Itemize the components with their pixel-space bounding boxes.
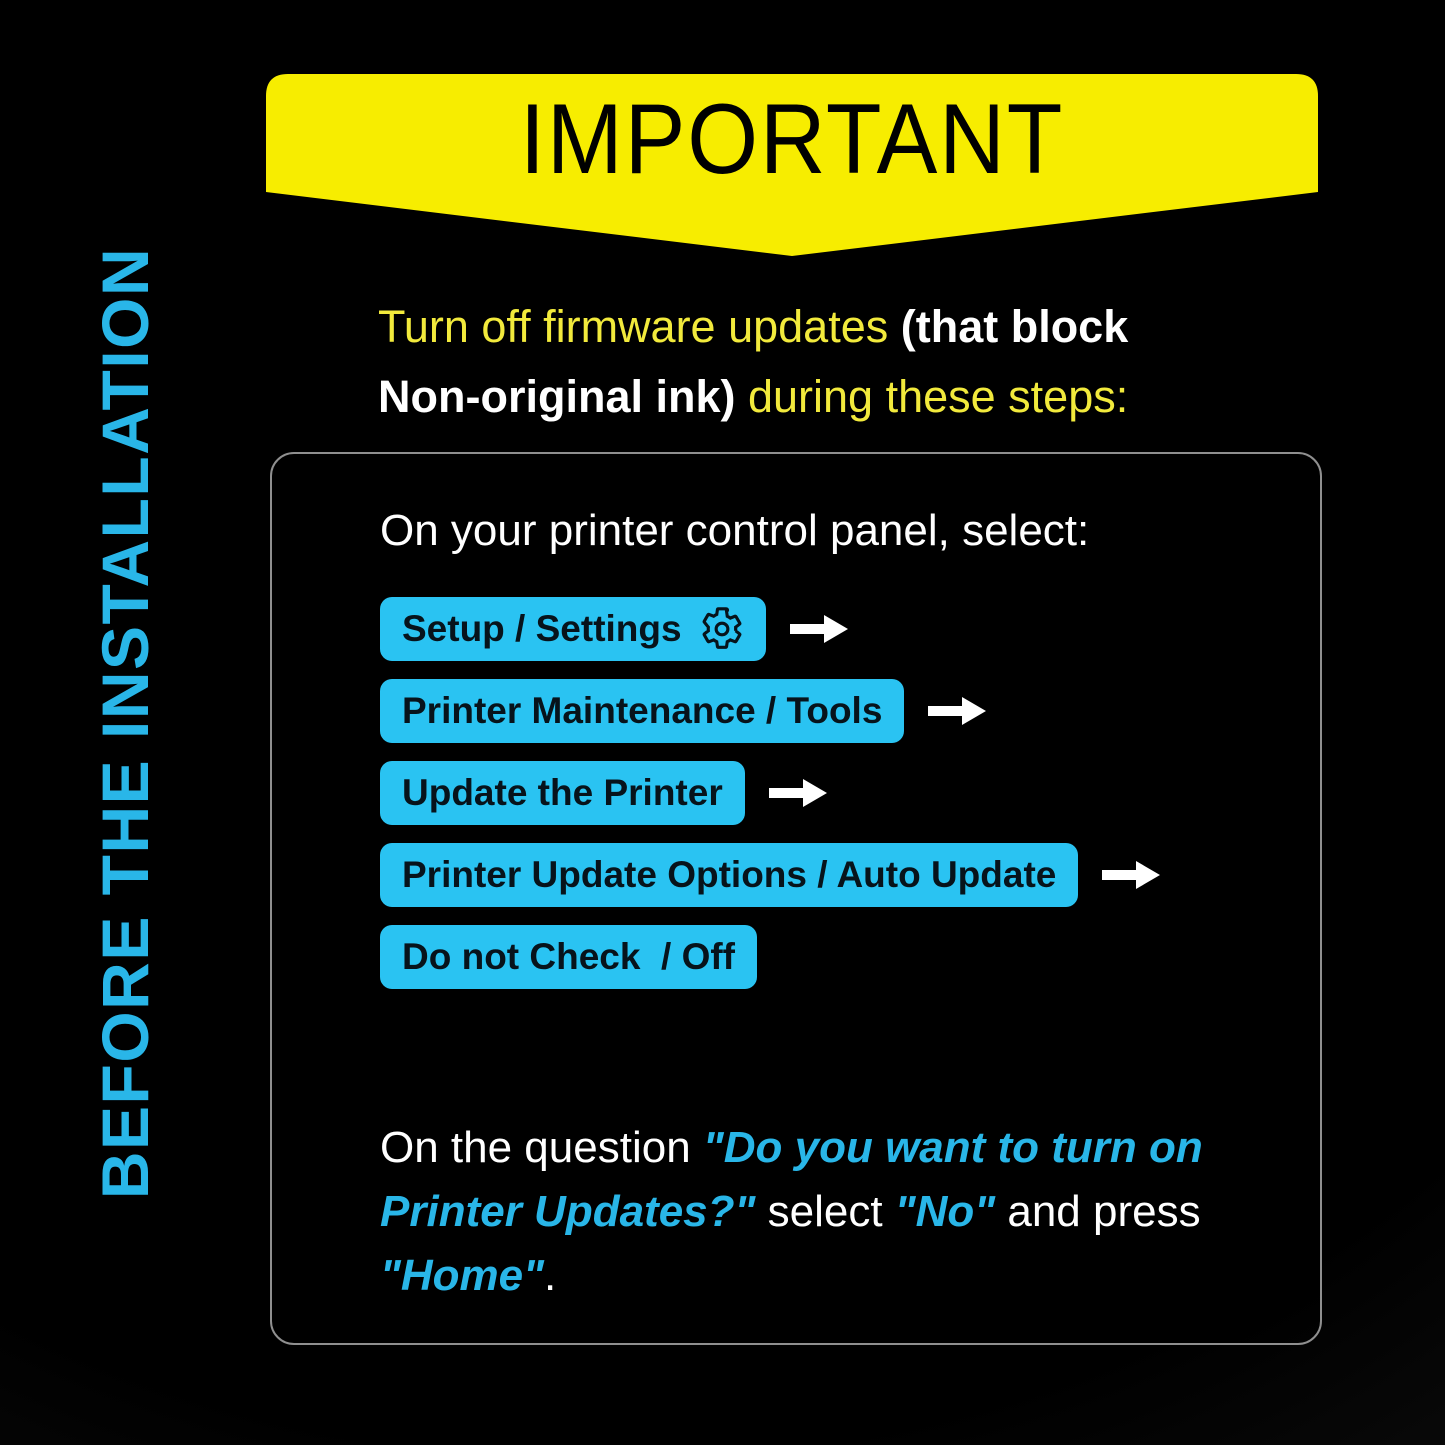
step-pill-update-the-printer[interactable]: Update the Printer bbox=[380, 761, 745, 825]
closing-text-4: . bbox=[544, 1251, 556, 1300]
side-title-container: BEFORE THE INSTALLATION bbox=[0, 0, 250, 1445]
side-title: BEFORE THE INSTALLATION bbox=[92, 246, 158, 1198]
closing-paragraph: On the question "Do you want to turn on … bbox=[380, 1116, 1225, 1307]
arrow-right-icon bbox=[769, 776, 829, 810]
arrow-right-icon bbox=[1102, 858, 1162, 892]
step-pill-printer-update-options-auto-update[interactable]: Printer Update Options / Auto Update bbox=[380, 843, 1078, 907]
banner-title: IMPORTANT bbox=[308, 74, 1276, 204]
step-row: Setup / Settings bbox=[380, 597, 1280, 661]
gear-icon bbox=[700, 607, 744, 651]
arrow-right-icon bbox=[790, 612, 850, 646]
step-row: Update the Printer bbox=[380, 761, 1280, 825]
step-pill-do-not-check-off[interactable]: Do not Check / Off bbox=[380, 925, 757, 989]
poster-root: BEFORE THE INSTALLATION IMPORTANT Turn o… bbox=[0, 0, 1445, 1445]
instructions-panel: On your printer control panel, select: S… bbox=[270, 452, 1322, 1345]
steps-list: Setup / Settings Pr bbox=[380, 597, 1280, 1007]
subtitle-part-3: during these steps: bbox=[735, 371, 1128, 422]
closing-quote-home: "Home" bbox=[380, 1251, 544, 1300]
step-label: Printer Maintenance / Tools bbox=[402, 690, 882, 732]
important-banner: IMPORTANT bbox=[266, 74, 1318, 256]
step-row: Printer Update Options / Auto Update bbox=[380, 843, 1280, 907]
step-label: Setup / Settings bbox=[402, 608, 682, 650]
step-pill-setup-settings[interactable]: Setup / Settings bbox=[380, 597, 766, 661]
closing-text-2: select bbox=[755, 1187, 894, 1236]
step-label: Printer Update Options / Auto Update bbox=[402, 854, 1056, 896]
subtitle-part-1: Turn off firmware updates bbox=[378, 301, 901, 352]
subtitle: Turn off firmware updates (that block No… bbox=[378, 292, 1208, 432]
step-label: Update the Printer bbox=[402, 772, 723, 814]
closing-text-3: and press bbox=[995, 1187, 1200, 1236]
panel-heading: On your printer control panel, select: bbox=[380, 506, 1089, 556]
arrow-right-icon bbox=[928, 694, 988, 728]
closing-text-1: On the question bbox=[380, 1123, 703, 1172]
step-row: Printer Maintenance / Tools bbox=[380, 679, 1280, 743]
step-row: Do not Check / Off bbox=[380, 925, 1280, 989]
step-pill-printer-maintenance-tools[interactable]: Printer Maintenance / Tools bbox=[380, 679, 904, 743]
closing-quote-no: "No" bbox=[895, 1187, 995, 1236]
step-label: Do not Check / Off bbox=[402, 936, 735, 978]
